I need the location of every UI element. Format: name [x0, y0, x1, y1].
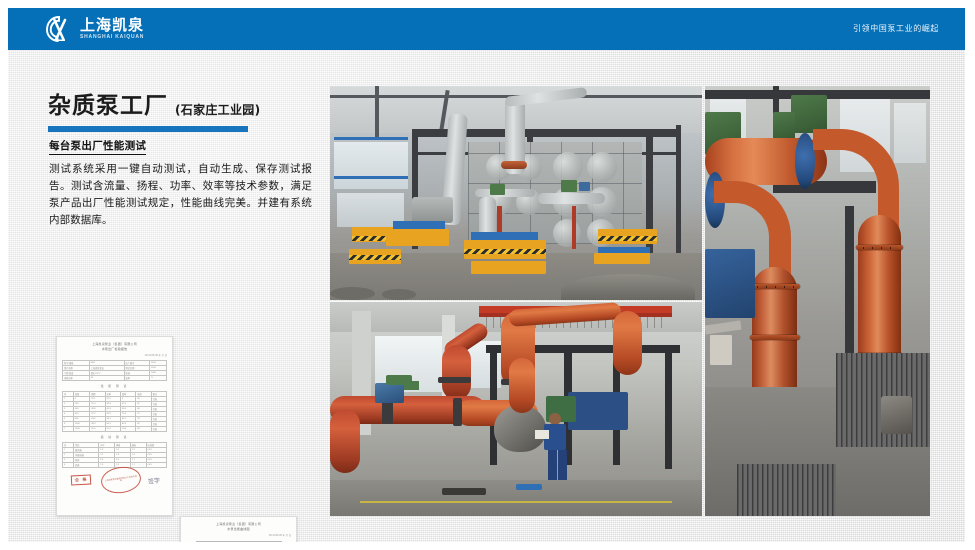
- header-bar: 上海凯泉 SHANGHAI KAIQUAN 引领中国泵工业的崛起: [8, 8, 965, 50]
- performance-curve-chart: [196, 541, 282, 542]
- page-title: 杂质泵工厂 (石家庄工业园): [48, 86, 328, 132]
- kaiquan-logo-icon: [44, 14, 74, 44]
- doc-company-seal-text: 上海凯泉泵业集团有限公司 检验专用章: [102, 475, 140, 485]
- doc-meta: NO.2015-08 年 月 日: [62, 353, 167, 357]
- slide-canvas: 上海凯泉 SHANGHAI KAIQUAN 引领中国泵工业的崛起 杂质泵工厂 (…: [8, 8, 965, 542]
- doc-performance-table: 序流量扬程功率效率电流备注 1052.131.2058合格 220051.435…: [62, 391, 167, 432]
- curve-title-line2: 水泵性能曲线图: [186, 527, 291, 532]
- photo-left-column: [330, 86, 702, 516]
- doc-thumb-test-report[interactable]: 上海凯泉泵业（集团）有限公司 水泵出厂检验报告 NO.2015-08 年 月 日…: [56, 336, 173, 516]
- doc-qualified-stamp: 合 格: [71, 474, 92, 485]
- doc-section1-label: 性 能 测 试: [62, 384, 167, 388]
- brand-logo[interactable]: 上海凯泉 SHANGHAI KAIQUAN: [44, 14, 144, 44]
- brand-name-cn: 上海凯泉: [80, 18, 144, 33]
- photo-large-orange-pipes[interactable]: [705, 86, 930, 516]
- title-sub-text: (石家庄工业园): [175, 101, 260, 120]
- curve-meta: NO.2015-08 年 月 日: [186, 533, 291, 537]
- photo-collage: [330, 86, 930, 516]
- photo-pump-test-hall[interactable]: [330, 86, 702, 300]
- photo-pipe-test-rig-worker[interactable]: [330, 302, 702, 516]
- title-underline-rule: [48, 126, 248, 132]
- body-heading: 每台泵出厂性能测试: [49, 138, 146, 155]
- doc-section2-label: 振 动 测 试: [62, 435, 167, 439]
- body-text-block: 每台泵出厂性能测试 测试系统采用一键自动测试，自动生成、保存测试报告。测试含流量…: [49, 136, 312, 229]
- doc-header-table: 型号/规格NSZ出厂编号1505 用户名称上海凯泉泵业测试日期2015 介质/温…: [62, 360, 167, 381]
- brand-name-en: SHANGHAI KAIQUAN: [80, 35, 144, 40]
- doc-thumb-performance-curve[interactable]: 上海凯泉泵业（集团）有限公司 水泵性能曲线图 NO.2015-08 年 月 日 …: [180, 516, 297, 542]
- header-tagline: 引领中国泵工业的崛起: [853, 23, 939, 34]
- doc-title-line2: 水泵出厂检验报告: [62, 347, 167, 352]
- title-main-text: 杂质泵工厂: [48, 86, 168, 120]
- doc-signature: 签字: [148, 475, 161, 485]
- body-paragraph: 测试系统采用一键自动测试，自动生成、保存测试报告。测试含流量、扬程、功率、效率等…: [49, 161, 312, 229]
- doc-vibration-table: 序测点水平垂直轴向标准值 1驱动端1.81.61.2≤4.5 2非驱动端2.11…: [62, 442, 167, 468]
